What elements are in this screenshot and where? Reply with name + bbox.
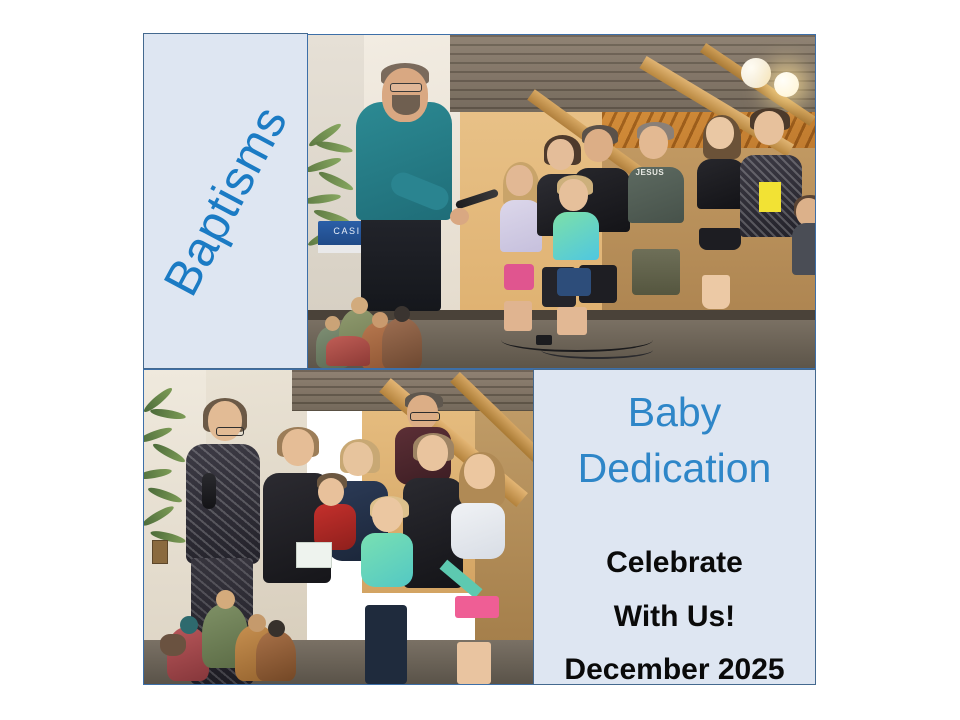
head (325, 316, 340, 331)
torso (361, 533, 413, 587)
head (639, 126, 668, 159)
glasses-icon (390, 83, 422, 92)
head (180, 616, 198, 634)
legs-lower (457, 642, 491, 684)
legs (632, 249, 680, 295)
robe (382, 318, 422, 369)
nativity-set (167, 577, 284, 684)
head (547, 139, 574, 170)
glasses-icon (410, 412, 440, 421)
nativity-figure (326, 333, 370, 369)
legs-lower (504, 301, 532, 331)
head (372, 497, 403, 532)
legs (504, 264, 534, 290)
clay-pot (160, 634, 186, 656)
nativity-figure (256, 620, 296, 680)
head (268, 620, 285, 637)
dedication-subtext-line-2: With Us! (534, 590, 815, 643)
slide-canvas: Baptisms CASIO (0, 0, 960, 720)
torso (792, 223, 816, 275)
head (584, 129, 613, 162)
legs (557, 268, 591, 296)
legs (455, 596, 499, 618)
head (506, 165, 533, 196)
legs (699, 228, 741, 250)
head (282, 429, 314, 466)
torso (553, 212, 599, 260)
floor-pedal (536, 335, 552, 345)
dedication-subtext-block: Celebrate With Us! December 2025 (534, 536, 815, 685)
dedication-heading-line-1: Baby (534, 384, 815, 440)
head (754, 111, 784, 145)
microphone-icon (202, 473, 216, 509)
head (343, 442, 373, 476)
glasses-icon (216, 427, 244, 436)
baptisms-photo: CASIO (307, 34, 816, 369)
torso (451, 503, 505, 559)
robe (256, 631, 296, 681)
teen-figure (693, 115, 744, 361)
baptisms-title-text: Baptisms (153, 97, 299, 305)
baby-dedication-text-panel: Baby Dedication Celebrate With Us! Decem… (533, 369, 816, 685)
legs (365, 605, 407, 684)
nativity-set (313, 275, 445, 368)
child-figure-pink-shorts (447, 452, 509, 684)
baptisms-title-panel: Baptisms (143, 33, 308, 369)
child-figure-teal-shirt (358, 496, 416, 684)
head (559, 179, 588, 211)
program-book (296, 542, 332, 568)
head (394, 306, 410, 322)
dedication-heading-line-2: Dedication (534, 440, 815, 496)
yellow-paper (759, 182, 781, 212)
baby-dedication-photo (143, 369, 534, 685)
dedication-text-block: Baby Dedication Celebrate With Us! Decem… (534, 384, 815, 685)
dedication-subtext-line-1: Celebrate (534, 536, 815, 589)
jesus-tshirt-text: JESUS (636, 168, 665, 177)
pendant-light-icon (774, 72, 799, 97)
seated-figure (792, 195, 816, 335)
legs-lower (702, 275, 730, 309)
head (464, 454, 495, 489)
lantern-icon (152, 540, 168, 564)
robe (326, 336, 370, 366)
pastor-hand (450, 208, 469, 225)
pastor-beard (392, 95, 420, 115)
torso (186, 444, 260, 564)
head (796, 198, 816, 226)
adult-figure-floral-dress (739, 108, 800, 368)
head (417, 435, 448, 471)
adult-figure-jesus-shirt (625, 122, 681, 362)
baby-head (318, 478, 344, 506)
nativity-figure (382, 306, 422, 368)
dedication-subtext-line-3: December 2025 (534, 643, 815, 685)
